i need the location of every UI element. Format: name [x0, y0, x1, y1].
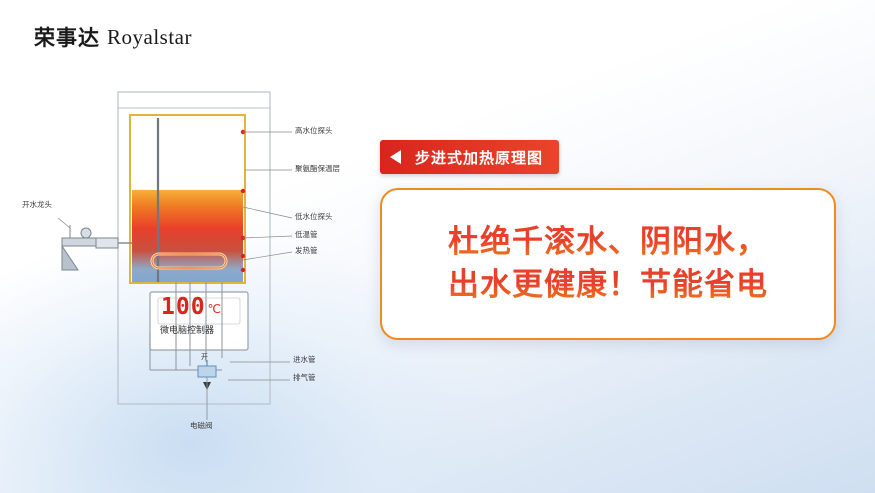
left-triangle-icon [390, 150, 401, 164]
brand-logo: 荣事达 Royalstar [34, 22, 192, 52]
temperature-unit: ℃ [208, 300, 221, 319]
faucet-assembly [62, 225, 132, 270]
diagram-svg [0, 70, 400, 440]
section-title-ribbon: 步进式加热原理图 [380, 140, 559, 174]
label-low-temp-pipe: 低温管 [295, 231, 318, 239]
label-solenoid-valve: 电磁阀 [190, 422, 213, 430]
label-exhaust-pipe: 排气管 [293, 374, 316, 382]
headline-line-1: 杜绝千滚水、阴阳水， [448, 221, 768, 264]
temperature-value: 100 [161, 296, 206, 319]
valve-switch-label: 开 [201, 354, 208, 362]
ribbon-label: 步进式加热原理图 [415, 147, 543, 168]
label-faucet: 开水龙头 [22, 201, 52, 209]
brand-name-cn: 荣事达 [34, 22, 100, 52]
label-heating-pipe: 发热管 [295, 247, 318, 255]
heating-principle-diagram: 100 ℃ 微电脑控制器 开 高水位探头 聚氨酯保温层 低水位探头 低温管 发热… [0, 70, 400, 440]
solenoid-valve [198, 360, 216, 420]
slide-canvas: 荣事达 Royalstar [0, 0, 875, 493]
headline-callout: 杜绝千滚水、阴阳水， 出水更健康！节能省电 [380, 188, 836, 340]
label-high-water-probe: 高水位探头 [295, 127, 333, 135]
controller-label: 微电脑控制器 [160, 327, 214, 337]
label-insulation: 聚氨酯保温层 [295, 165, 340, 173]
brand-name-en: Royalstar [107, 25, 192, 50]
label-inlet-pipe: 进水管 [293, 356, 316, 364]
label-low-water-probe: 低水位探头 [295, 213, 333, 221]
temperature-display: 100 ℃ [161, 296, 221, 319]
headline-line-2: 出水更健康！节能省电 [448, 264, 768, 307]
